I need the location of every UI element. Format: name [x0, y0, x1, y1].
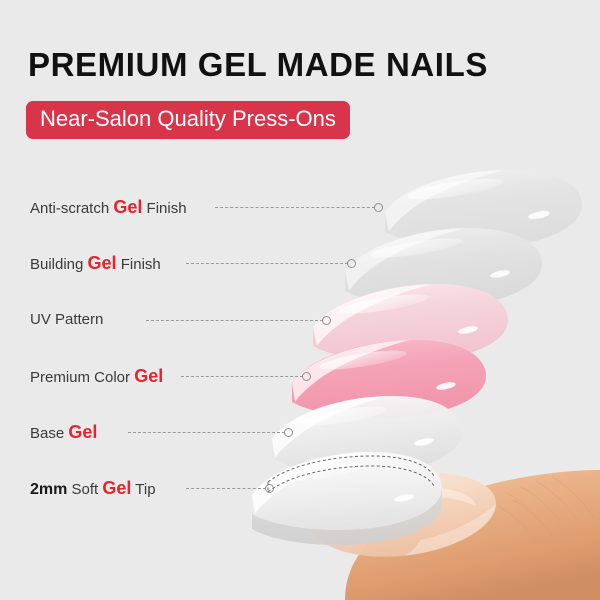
leader-line-premium-color-gel: [181, 376, 303, 378]
layer-label-anti-scratch-gel-finish: Anti-scratch Gel Finish: [30, 196, 187, 220]
leader-line-soft-gel-tip: [186, 488, 266, 490]
leader-endpoint-building-gel-finish: [347, 259, 356, 268]
layer-label-soft-gel-tip: 2mm Soft Gel Tip: [30, 477, 156, 501]
leader-line-uv-pattern: [146, 320, 323, 322]
label-accent-gel: Gel: [68, 422, 97, 442]
layer-label-base-gel: Base Gel: [30, 421, 97, 445]
nail-layer-soft-gel-tip: [252, 452, 442, 545]
layer-label-premium-color-gel: Premium Color Gel: [30, 365, 163, 389]
leader-endpoint-base-gel: [284, 428, 293, 437]
label-accent-gel: Gel: [88, 253, 117, 273]
page-title: PREMIUM GEL MADE NAILS: [28, 48, 488, 81]
leader-endpoint-anti-scratch-gel-finish: [374, 203, 383, 212]
label-text-suffix: Finish: [142, 200, 186, 217]
label-accent-gel: Gel: [102, 478, 131, 498]
layer-label-uv-pattern: UV Pattern: [30, 309, 103, 331]
label-text: Premium Color: [30, 369, 134, 386]
label-accent-gel: Gel: [113, 197, 142, 217]
label-text: Soft: [67, 481, 102, 498]
label-text: Building: [30, 256, 88, 273]
layer-label-building-gel-finish: Building Gel Finish: [30, 252, 161, 276]
label-text-suffix: Tip: [131, 481, 155, 498]
leader-endpoint-premium-color-gel: [302, 372, 311, 381]
label-text-suffix: Finish: [117, 256, 161, 273]
exploded-nail-layer-illustration: [0, 0, 600, 600]
label-text: Base: [30, 425, 68, 442]
leader-line-base-gel: [128, 432, 285, 434]
label-text: Anti-scratch: [30, 200, 113, 217]
label-accent-gel: Gel: [134, 366, 163, 386]
leader-line-building-gel-finish: [186, 263, 348, 265]
infographic-canvas: PREMIUM GEL MADE NAILS Near-Salon Qualit…: [0, 0, 600, 600]
leader-endpoint-soft-gel-tip: [265, 484, 274, 493]
leader-line-anti-scratch-gel-finish: [215, 207, 375, 209]
leader-endpoint-uv-pattern: [322, 316, 331, 325]
label-measurement: 2mm: [30, 481, 67, 498]
tagline-badge: Near-Salon Quality Press-Ons: [26, 101, 350, 139]
label-text: UV Pattern: [30, 311, 103, 328]
